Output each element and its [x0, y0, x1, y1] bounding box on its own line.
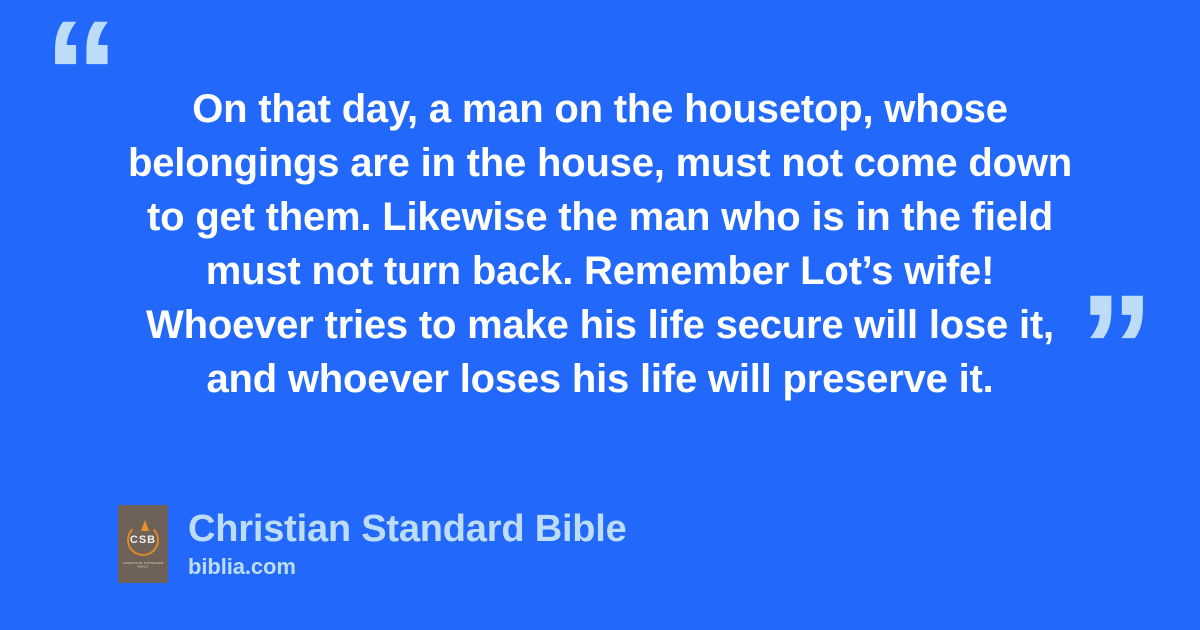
- csb-flame-icon: [141, 520, 149, 531]
- book-cover-icon: CSB CHRISTIAN STANDARD BIBLE: [118, 505, 168, 583]
- closing-quote-icon: ”: [1079, 272, 1156, 422]
- quote-text: On that day, a man on the housetop, whos…: [60, 82, 1140, 406]
- quote-card: “ On that day, a man on the housetop, wh…: [0, 0, 1200, 630]
- source-title: Christian Standard Bible: [188, 507, 627, 551]
- attribution: CSB CHRISTIAN STANDARD BIBLE Christian S…: [118, 505, 627, 583]
- attribution-text: Christian Standard Bible biblia.com: [188, 505, 627, 581]
- book-cover-initials: CSB: [118, 534, 168, 546]
- source-url[interactable]: biblia.com: [188, 553, 627, 581]
- book-cover-subtitle: CHRISTIAN STANDARD BIBLE: [118, 561, 168, 568]
